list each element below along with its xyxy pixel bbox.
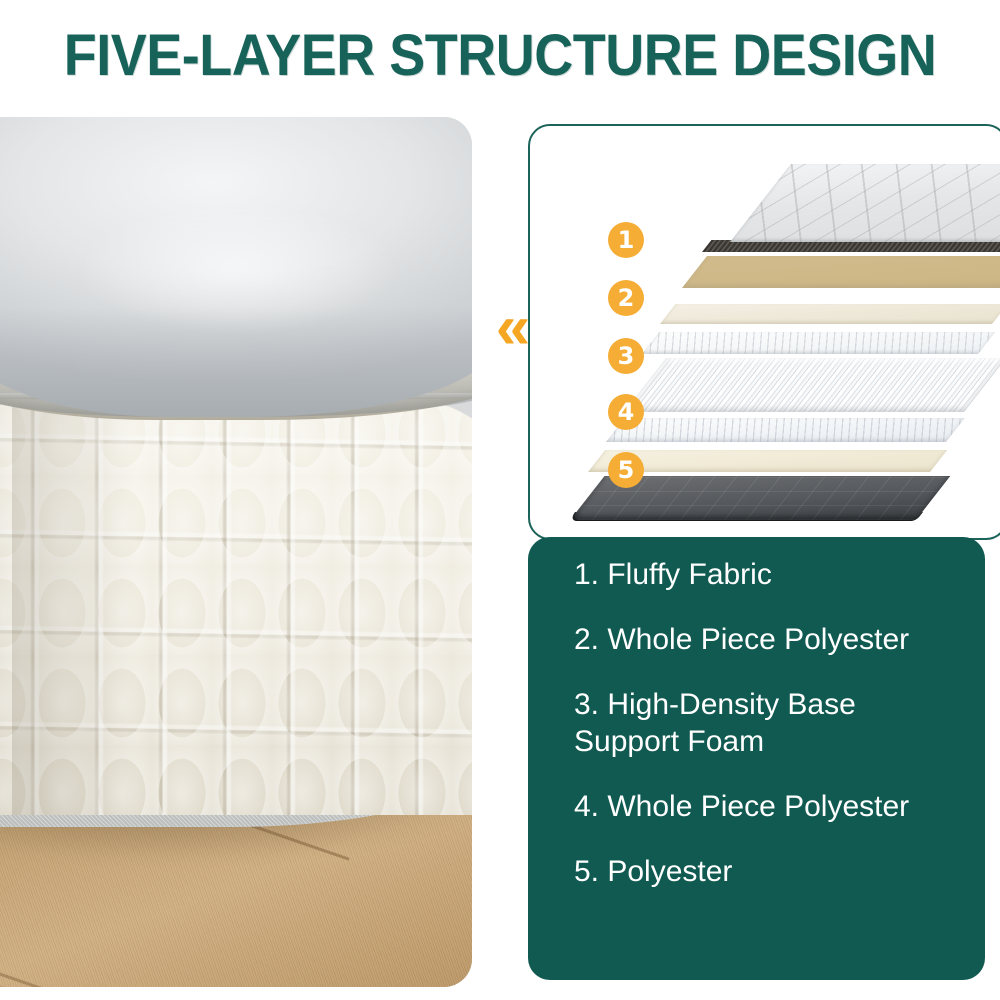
layer-badge-4[interactable]: 4 xyxy=(608,394,644,430)
layer-diagram-card: 1 2 3 4 5 xyxy=(528,124,1000,540)
layer-4-quilted-sheet xyxy=(606,418,965,442)
list-item: 5. Polyester xyxy=(574,853,994,890)
layer-badge-3[interactable]: 3 xyxy=(608,338,644,374)
layer-3-upper-sheet xyxy=(642,332,995,354)
list-item: 2. Whole Piece Polyester xyxy=(574,621,994,658)
layer-legend-list: 1. Fluffy Fabric 2. Whole Piece Polyeste… xyxy=(574,556,994,918)
layer-badge-1[interactable]: 1 xyxy=(608,222,644,258)
page-title: FIVE-LAYER STRUCTURE DESIGN xyxy=(35,26,965,86)
mattress-top-highlight xyxy=(72,203,402,333)
layer-1-quilted-top xyxy=(730,164,1000,242)
layer-3-foam-sheet xyxy=(660,304,1000,324)
list-item: 4. Whole Piece Polyester xyxy=(574,788,994,825)
list-item: 3. High-Density Base Support Foam xyxy=(574,686,994,760)
list-item: 1. Fluffy Fabric xyxy=(574,556,994,593)
product-photo-panel xyxy=(0,117,472,987)
mattress-corner xyxy=(0,117,472,877)
mattress-corner-shading xyxy=(12,385,137,815)
infographic-root: FIVE-LAYER STRUCTURE DESIGN « xyxy=(0,0,1000,1000)
layer-badge-2[interactable]: 2 xyxy=(608,280,644,316)
layer-badge-5[interactable]: 5 xyxy=(608,452,644,488)
layer-3-pocket-springs xyxy=(624,358,1000,412)
layer-2-perforated-foam xyxy=(682,256,1000,288)
